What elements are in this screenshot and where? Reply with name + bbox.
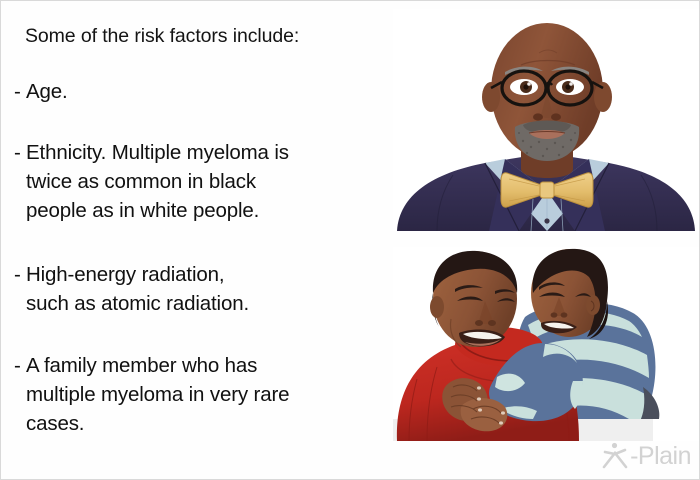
bullet-marker: - xyxy=(14,77,26,106)
bullet-line: multiple myeloma in very rare xyxy=(14,380,289,409)
text-column: Some of the risk factors include: -Age. … xyxy=(1,1,393,480)
logo-wordmark: -Plain xyxy=(630,444,691,469)
list-item: -Age. xyxy=(14,77,68,106)
bullet-line: High-energy radiation, xyxy=(26,263,224,286)
elderly-man-with-glasses-illustration xyxy=(393,9,700,231)
bullet-line: people as in white people. xyxy=(14,196,289,225)
slide-canvas: Some of the risk factors include: -Age. … xyxy=(0,0,700,480)
page-title: Some of the risk factors include: xyxy=(25,25,299,48)
father-and-son-hug-illustration xyxy=(393,247,700,441)
boy-head xyxy=(531,249,608,339)
list-item: -Ethnicity. Multiple myeloma is twice as… xyxy=(14,138,289,225)
bullet-line: cases. xyxy=(14,409,289,438)
bullet-line: twice as common in black xyxy=(14,167,289,196)
bullet-line: such as atomic radiation. xyxy=(14,289,249,318)
bullet-marker: - xyxy=(14,260,26,289)
bullet-marker: - xyxy=(14,138,26,167)
bullet-line: Age. xyxy=(26,80,68,103)
list-item: -A family member who has multiple myelom… xyxy=(14,351,289,438)
bullet-marker: - xyxy=(14,351,26,380)
bullet-line: A family member who has xyxy=(26,354,257,377)
x-plain-logo: -Plain xyxy=(602,441,691,471)
x-plain-figure-icon xyxy=(602,441,632,471)
bullet-line: Ethnicity. Multiple myeloma is xyxy=(26,141,289,164)
list-item: -High-energy radiation, such as atomic r… xyxy=(14,260,249,318)
